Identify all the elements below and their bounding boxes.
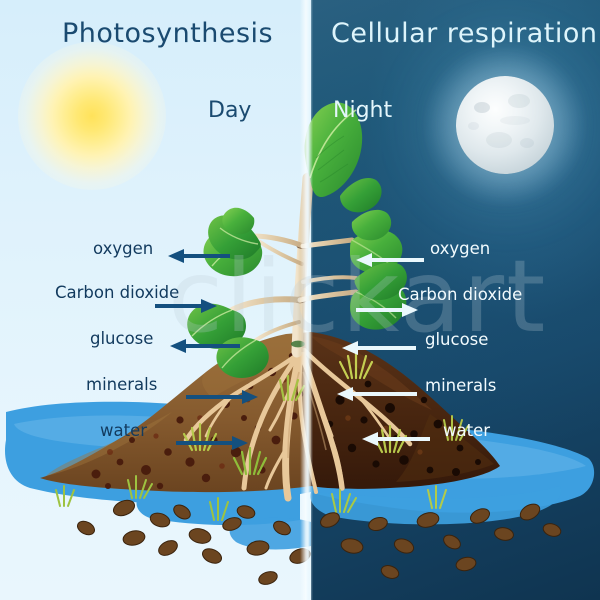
label-glucose: glucose xyxy=(90,329,153,348)
arrow-head xyxy=(170,339,186,353)
label-minerals: minerals xyxy=(86,375,157,394)
arrow-water-right xyxy=(176,436,248,450)
arrow-head xyxy=(356,253,372,267)
leaf-icon xyxy=(340,178,382,212)
arrow-oxygen-left xyxy=(168,249,230,263)
arrow-shaft xyxy=(351,392,417,396)
arrow-carbon-dioxide-right xyxy=(356,303,418,317)
day-night-divider xyxy=(300,0,313,600)
arrow-head xyxy=(168,249,184,263)
label-oxygen: oxygen xyxy=(93,239,153,258)
label-water: water xyxy=(100,421,147,440)
photosynthesis-respiration-infographic: clickart clickart Photosynthesis Cellula… xyxy=(0,0,600,600)
arrow-water-left xyxy=(362,432,430,446)
plant-icon xyxy=(187,102,407,378)
arrow-head xyxy=(242,390,258,404)
arrow-glucose-left xyxy=(170,339,240,353)
arrow-shaft xyxy=(182,254,230,258)
night-title: Cellular respiration xyxy=(331,18,598,49)
night-subtitle: Night xyxy=(333,98,392,123)
arrow-shaft xyxy=(176,441,234,445)
label-carbon-dioxide: Carbon dioxide xyxy=(398,285,522,304)
arrow-shaft xyxy=(186,395,244,399)
label-oxygen: oxygen xyxy=(430,239,490,258)
arrow-head xyxy=(337,387,353,401)
arrow-head xyxy=(201,299,217,313)
arrow-head xyxy=(402,303,418,317)
arrow-shaft xyxy=(376,437,430,441)
arrow-minerals-left xyxy=(337,387,417,401)
label-glucose: glucose xyxy=(425,330,488,349)
arrow-glucose-left xyxy=(342,341,416,355)
arrow-minerals-right xyxy=(186,390,258,404)
arrow-oxygen-left xyxy=(356,253,424,267)
arrow-head xyxy=(362,432,378,446)
arrow-head xyxy=(232,436,248,450)
arrow-head xyxy=(342,341,358,355)
arrow-shaft xyxy=(356,308,404,312)
arrow-shaft xyxy=(356,346,416,350)
arrow-shaft xyxy=(184,344,240,348)
arrow-shaft xyxy=(370,258,424,262)
day-subtitle: Day xyxy=(208,98,251,123)
label-minerals: minerals xyxy=(425,376,496,395)
day-title: Photosynthesis xyxy=(62,18,273,49)
arrow-shaft xyxy=(155,304,203,308)
arrow-carbon-dioxide-right xyxy=(155,299,217,313)
label-water: water xyxy=(443,421,490,440)
